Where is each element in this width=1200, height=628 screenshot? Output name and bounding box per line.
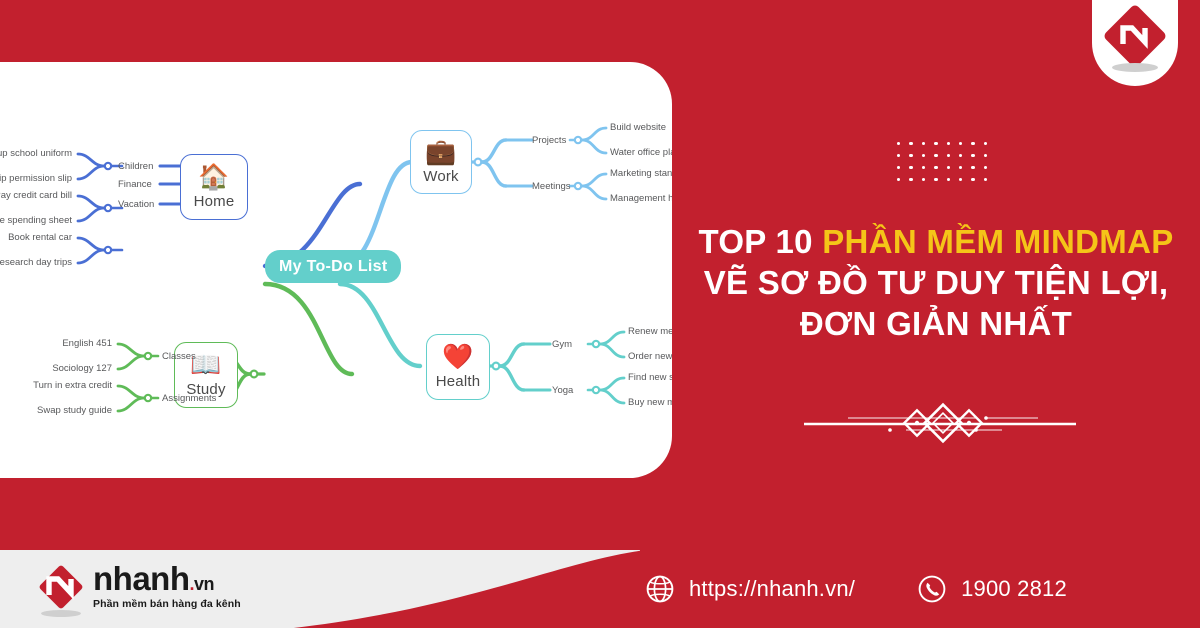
grid-dot — [947, 166, 950, 169]
grid-dot — [984, 178, 987, 181]
footer-brand-tagline: Phần mềm bán hàng đa kênh — [93, 598, 241, 610]
headline-line1-highlight: PHẦN MỀM MINDMAP — [822, 223, 1173, 260]
mindmap-card: My To-Do List 🏠 Home Children Finance Va… — [0, 62, 672, 478]
leaf-study-classes-2[interactable]: Sociology 127 — [0, 363, 112, 374]
leaf-home-vacation-2[interactable]: Research day trips — [0, 257, 72, 268]
subtopic-home-finance[interactable]: Finance — [118, 179, 152, 190]
subtopic-study-assignments[interactable]: Assignments — [162, 393, 216, 404]
grid-dot — [959, 142, 962, 145]
subtopic-health-yoga[interactable]: Yoga — [552, 385, 573, 396]
grid-dot — [947, 178, 950, 181]
nhanh-n-logo-icon — [1112, 13, 1158, 59]
briefcase-icon: 💼 — [425, 140, 456, 165]
nhanh-n-logo-icon-footer — [38, 564, 84, 616]
grid-dot — [984, 142, 987, 145]
leaf-work-meetings-2[interactable]: Management huddle — [610, 193, 672, 204]
grid-dot — [909, 166, 912, 169]
grid-dot — [922, 154, 925, 157]
grid-dot — [909, 142, 912, 145]
footer-brand-wordmark: nhanh.vn — [93, 563, 241, 595]
footer-contact-group: https://nhanh.vn/ 1900 2812 — [645, 550, 1200, 628]
grid-dot — [971, 154, 974, 157]
grid-dot — [934, 142, 937, 145]
house-icon: 🏠 — [198, 165, 229, 190]
footer-brand-logo: nhanh.vn Phần mềm bán hàng đa kênh — [38, 564, 241, 616]
grid-dot — [959, 178, 962, 181]
leaf-home-vacation-1[interactable]: Book rental car — [0, 232, 72, 243]
leaf-study-classes-1[interactable]: English 451 — [0, 338, 112, 349]
subtopic-home-vacation[interactable]: Vacation — [118, 199, 154, 210]
branch-node-home[interactable]: 🏠 Home — [180, 154, 248, 220]
leaf-health-yoga-1[interactable]: Find new studio — [628, 372, 672, 383]
subtopic-work-meetings[interactable]: Meetings — [532, 181, 571, 192]
globe-icon — [645, 574, 675, 604]
branch-label-health: Health — [436, 373, 481, 390]
headline-line2: VẼ SƠ ĐỒ TƯ DUY TIỆN LỢI, — [672, 263, 1200, 304]
headline-line3: ĐƠN GIẢN NHẤT — [672, 304, 1200, 345]
brand-name-text: nhanh — [93, 560, 189, 597]
grid-dot — [922, 166, 925, 169]
grid-dot — [909, 154, 912, 157]
mindmap-canvas: My To-Do List 🏠 Home Children Finance Va… — [0, 62, 672, 478]
branch-label-home: Home — [194, 193, 235, 210]
footer-logo-shadow — [41, 610, 81, 617]
mindmap-center-node[interactable]: My To-Do List — [265, 250, 401, 283]
leaf-home-children-2[interactable]: Field trip permission slip — [0, 173, 72, 184]
grid-dot — [959, 166, 962, 169]
subtopic-health-gym[interactable]: Gym — [552, 339, 572, 350]
grid-dot — [959, 154, 962, 157]
footer-phone-item[interactable]: 1900 2812 — [917, 574, 1067, 604]
grid-dot — [984, 166, 987, 169]
leaf-study-assignments-1[interactable]: Turn in extra credit — [0, 380, 112, 391]
grid-dot — [922, 142, 925, 145]
dot-grid-decoration — [897, 142, 989, 188]
poster-canvas: My To-Do List 🏠 Home Children Finance Va… — [0, 0, 1200, 628]
leaf-study-assignments-2[interactable]: Swap study guide — [0, 405, 112, 416]
footer-website-label: https://nhanh.vn/ — [689, 576, 855, 602]
footer-website-item[interactable]: https://nhanh.vn/ — [645, 574, 855, 604]
leaf-health-yoga-2[interactable]: Buy new mat — [628, 397, 672, 408]
ornamental-divider — [790, 402, 1090, 446]
leaf-home-children-1[interactable]: Pick up school uniform — [0, 148, 72, 159]
brand-badge-top-right — [1092, 0, 1178, 86]
leaf-home-finance-2[interactable]: Update spending sheet — [0, 215, 72, 226]
leaf-work-meetings-1[interactable]: Marketing stand up — [610, 168, 672, 179]
subtopic-work-projects[interactable]: Projects — [532, 135, 566, 146]
subtopic-study-classes[interactable]: Classes — [162, 351, 196, 362]
badge-logo-shadow — [1112, 63, 1158, 72]
leaf-health-gym-2[interactable]: Order new shoes — [628, 351, 672, 362]
brand-tld-text: vn — [194, 574, 214, 594]
grid-dot — [934, 166, 937, 169]
subtopic-home-children[interactable]: Children — [118, 161, 153, 172]
branch-node-work[interactable]: 💼 Work — [410, 130, 472, 194]
grid-dot — [971, 142, 974, 145]
grid-dot — [984, 154, 987, 157]
grid-dot — [922, 178, 925, 181]
headline-line1-plain: TOP 10 — [698, 223, 822, 260]
heart-icon: ❤️ — [442, 345, 473, 370]
grid-dot — [947, 154, 950, 157]
leaf-work-projects-2[interactable]: Water office plants — [610, 147, 672, 158]
phone-icon — [917, 574, 947, 604]
leaf-home-finance-1[interactable]: Pay credit card bill — [0, 190, 72, 201]
grid-dot — [947, 142, 950, 145]
grid-dot — [934, 178, 937, 181]
branch-label-work: Work — [423, 168, 459, 185]
grid-dot — [971, 166, 974, 169]
grid-dot — [971, 178, 974, 181]
center-node-label: My To-Do List — [279, 258, 387, 276]
footer-bar: nhanh.vn Phần mềm bán hàng đa kênh https… — [0, 550, 1200, 628]
footer-phone-label: 1900 2812 — [961, 576, 1067, 602]
leaf-health-gym-1[interactable]: Renew membership — [628, 326, 672, 337]
leaf-work-projects-1[interactable]: Build website — [610, 122, 666, 133]
grid-dot — [897, 166, 900, 169]
branch-node-health[interactable]: ❤️ Health — [426, 334, 490, 400]
grid-dot — [934, 154, 937, 157]
grid-dot — [897, 178, 900, 181]
grid-dot — [897, 154, 900, 157]
grid-dot — [909, 178, 912, 181]
page-title: TOP 10 PHẦN MỀM MINDMAP VẼ SƠ ĐỒ TƯ DUY … — [672, 222, 1200, 345]
grid-dot — [897, 142, 900, 145]
